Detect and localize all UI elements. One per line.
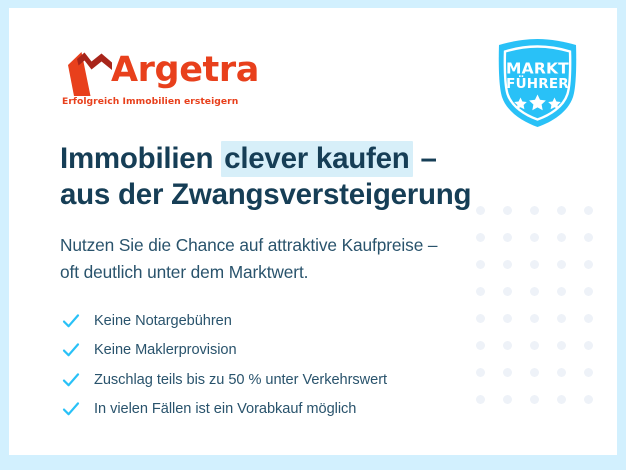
dot	[584, 341, 593, 350]
dot	[503, 206, 512, 215]
dot	[503, 233, 512, 242]
headline-highlight: clever kaufen	[221, 141, 412, 177]
dot	[503, 341, 512, 350]
banner-canvas: Argetra Erfolgreich Immobilien ersteiger…	[9, 8, 617, 455]
headline-line1-after: –	[413, 142, 437, 175]
dot	[476, 341, 485, 350]
dot	[530, 233, 539, 242]
svg-text:MARKT: MARKT	[506, 60, 569, 78]
dot	[584, 260, 593, 269]
dot	[557, 206, 566, 215]
list-item-label: In vielen Fällen ist ein Vorabkauf mögli…	[94, 400, 356, 418]
dot	[557, 341, 566, 350]
dot	[476, 233, 485, 242]
check-icon	[62, 400, 80, 418]
dot	[530, 260, 539, 269]
subheadline: Nutzen Sie die Chance auf attraktive Kau…	[60, 232, 437, 286]
list-item: Keine Maklerprovision	[62, 336, 387, 366]
subheadline-line-2: oft deutlich unter dem Marktwert.	[60, 262, 308, 282]
dot	[584, 206, 593, 215]
svg-text:FÜHRER: FÜHRER	[506, 74, 569, 92]
dot	[530, 341, 539, 350]
check-icon	[62, 371, 80, 389]
headline-line-1: Immobilien clever kaufen –	[60, 141, 437, 177]
list-item-label: Keine Notargebühren	[94, 312, 232, 330]
list-item: In vielen Fällen ist ein Vorabkauf mögli…	[62, 395, 387, 425]
dot	[557, 368, 566, 377]
dot	[503, 287, 512, 296]
dot	[476, 260, 485, 269]
dot	[557, 314, 566, 323]
check-icon	[62, 312, 80, 330]
benefit-list: Keine Notargebühren Keine Maklerprovisio…	[62, 306, 387, 424]
headline-line1-before: Immobilien	[60, 142, 221, 175]
dot	[476, 314, 485, 323]
market-leader-badge: MARKT FÜHRER	[494, 37, 581, 129]
dot	[530, 206, 539, 215]
logo-tagline: Erfolgreich Immobilien ersteigern	[62, 96, 238, 107]
dot	[584, 314, 593, 323]
dot	[503, 314, 512, 323]
dot	[503, 368, 512, 377]
dot	[584, 368, 593, 377]
dot	[503, 260, 512, 269]
argetra-logo[interactable]: Argetra Erfolgreich Immobilien ersteiger…	[61, 46, 251, 118]
argetra-roof-a-mark	[61, 48, 115, 96]
dot	[557, 395, 566, 404]
subheadline-line-1: Nutzen Sie die Chance auf attraktive Kau…	[60, 235, 437, 255]
dot	[530, 287, 539, 296]
headline-line-2: aus der Zwangsversteigerung	[60, 178, 471, 211]
dot	[584, 287, 593, 296]
list-item: Keine Notargebühren	[62, 306, 387, 336]
list-item-label: Zuschlag teils bis zu 50 % unter Verkehr…	[94, 371, 387, 389]
dot	[557, 233, 566, 242]
logo-lockup: Argetra	[61, 46, 251, 96]
dot-grid-pattern	[476, 206, 611, 422]
dot	[557, 287, 566, 296]
page-title: Immobilien clever kaufen – aus der Zwang…	[60, 141, 471, 213]
dot	[530, 395, 539, 404]
list-item: Zuschlag teils bis zu 50 % unter Verkehr…	[62, 365, 387, 395]
check-icon	[62, 341, 80, 359]
dot	[476, 368, 485, 377]
dot	[530, 368, 539, 377]
list-item-label: Keine Maklerprovision	[94, 341, 237, 359]
dot	[530, 314, 539, 323]
dot	[476, 206, 485, 215]
dot	[584, 395, 593, 404]
dot	[584, 233, 593, 242]
dot	[557, 260, 566, 269]
dot	[503, 395, 512, 404]
promo-banner: Argetra Erfolgreich Immobilien ersteiger…	[0, 0, 626, 470]
logo-wordmark: Argetra	[111, 47, 259, 93]
dot	[476, 395, 485, 404]
dot	[476, 287, 485, 296]
